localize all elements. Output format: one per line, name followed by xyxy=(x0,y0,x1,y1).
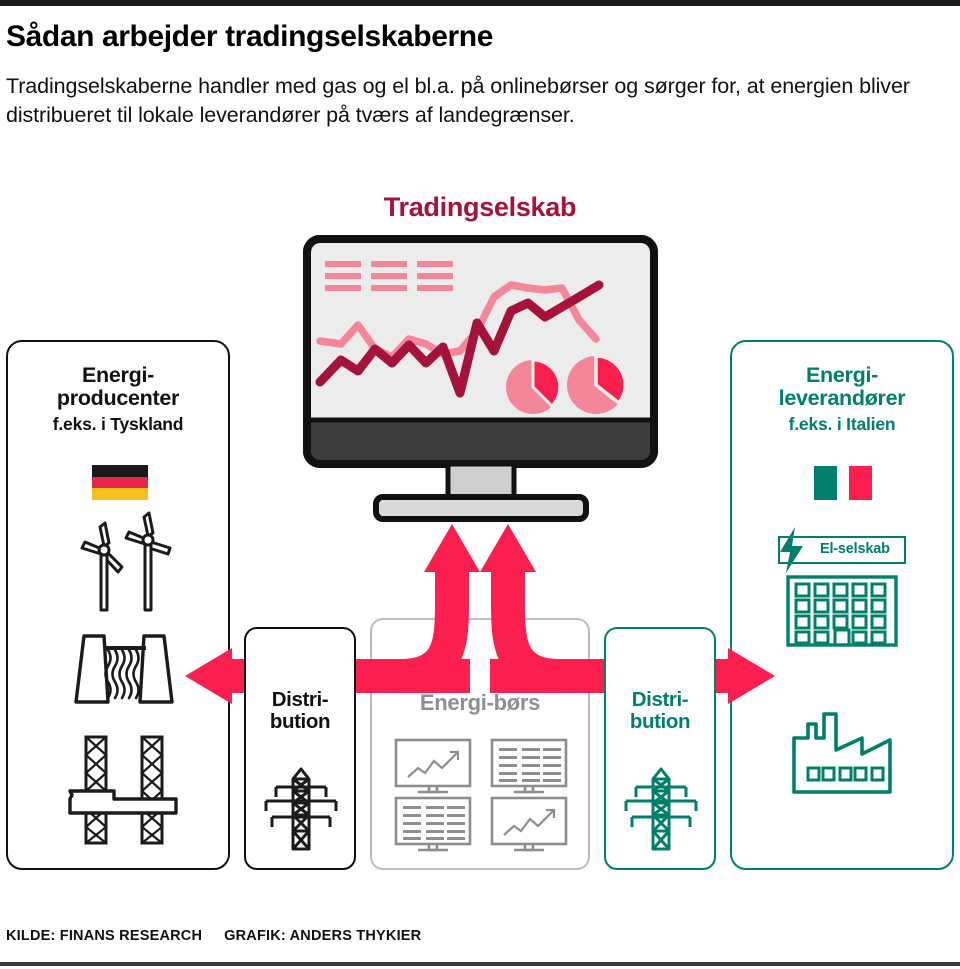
lightning-bolt-icon xyxy=(776,527,810,573)
flag-germany-icon xyxy=(92,465,148,500)
dist-right-line2: bution xyxy=(630,710,690,733)
screen-legend-bars xyxy=(325,261,453,291)
cooling-tower-icon xyxy=(62,630,180,708)
oil-rig-icon xyxy=(66,735,180,845)
suppliers-subtitle: f.eks. i Italien xyxy=(732,414,952,435)
suppliers-title-line2: leverandører xyxy=(779,386,906,410)
credits: KILDE: FINANS RESEARCHGRAFIK: ANDERS THY… xyxy=(6,928,421,944)
power-pylon-icon xyxy=(262,767,340,851)
el-selskab-label: El-selskab xyxy=(820,541,890,557)
panel-distribution-left: Distri- bution xyxy=(244,627,356,870)
dist-left-line2: bution xyxy=(270,710,330,733)
power-pylon-icon-teal xyxy=(622,767,700,851)
trading-monitor-icon xyxy=(303,235,658,520)
credit-source: KILDE: FINANS RESEARCH xyxy=(6,928,202,944)
dist-right-line1: Distri- xyxy=(632,688,688,711)
factory-icon xyxy=(790,710,900,796)
page-standfirst: Tradingselskaberne handler med gas og el… xyxy=(6,72,936,130)
wind-turbines-icon xyxy=(60,510,180,610)
page-title: Sådan arbejder tradingselskaberne xyxy=(6,20,946,53)
screen-pie-left xyxy=(506,360,560,414)
four-trading-monitors-icon xyxy=(392,737,570,859)
exchange-label: Energi-børs xyxy=(372,690,588,716)
trading-company-title: Tradingselskab xyxy=(0,192,960,223)
screen-pie-right xyxy=(567,356,625,414)
dist-left-line1: Distri- xyxy=(272,688,328,711)
flag-italy-icon xyxy=(814,466,872,500)
credit-graphic: GRAFIK: ANDERS THYKIER xyxy=(224,928,421,944)
panel-distribution-right: Distri- bution xyxy=(604,627,716,870)
producers-title-line2: producenter xyxy=(57,386,179,410)
infographic-stage: Sådan arbejder tradingselskaberne Tradin… xyxy=(0,0,960,969)
top-rule xyxy=(0,0,960,6)
producers-subtitle: f.eks. i Tyskland xyxy=(8,414,228,435)
producers-title-line1: Energi- xyxy=(82,363,154,387)
suppliers-title-line1: Energi- xyxy=(806,363,878,387)
bottom-rule xyxy=(0,962,960,966)
apartment-building-icon xyxy=(786,575,898,647)
